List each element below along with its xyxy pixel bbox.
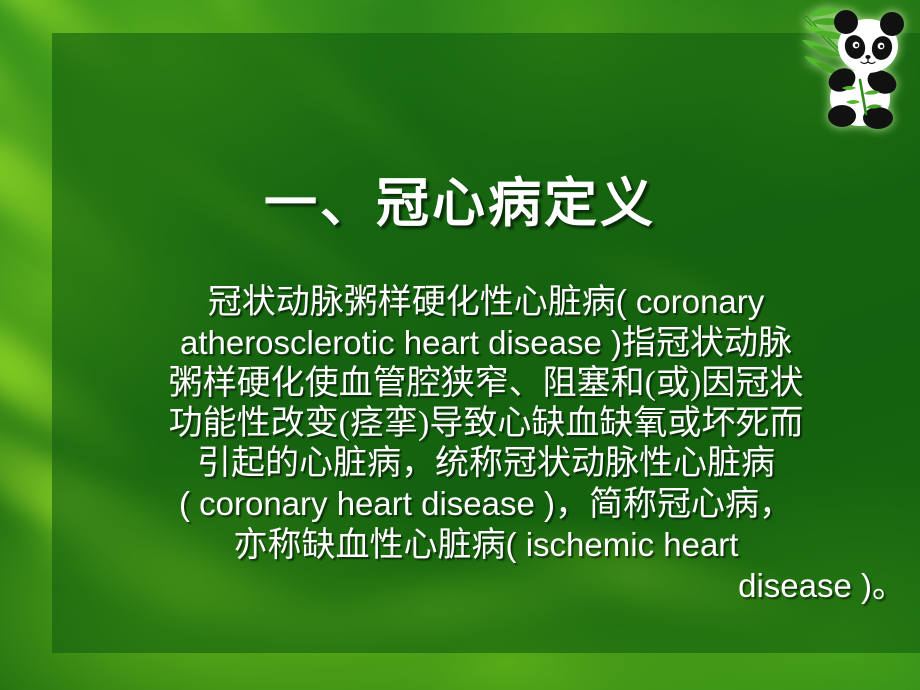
- text-run-han: 亦称缺血性心脏病: [234, 527, 506, 564]
- body-line: disease )。: [66, 566, 906, 607]
- page-title: 一、冠心病定义: [0, 173, 920, 235]
- definition-body-text: 冠状动脉粥样硬化性心脏病( coronaryatherosclerotic he…: [52, 282, 920, 607]
- text-run-han: ，简称冠心病，: [555, 486, 793, 523]
- text-run-han: 功能性改变(痉挛)导致心缺血缺氧或坏死而: [169, 405, 804, 442]
- text-run-han: 指冠状动脉: [622, 325, 792, 362]
- text-run-latin: ( coronary: [616, 283, 765, 320]
- body-line: atherosclerotic heart disease )指冠状动脉: [66, 323, 906, 364]
- body-line: 功能性改变(痉挛)导致心缺血缺氧或坏死而: [66, 404, 906, 444]
- text-run-latin: atherosclerotic heart disease ): [180, 324, 622, 361]
- text-run-han: 冠状动脉粥样硬化性心脏病: [208, 284, 616, 321]
- text-run-latin: ( coronary heart disease ): [179, 485, 555, 522]
- text-run-han: 粥样硬化使血管腔狭窄、阻塞和(或)因冠状: [169, 365, 804, 402]
- text-run-latin: disease ): [738, 567, 872, 604]
- body-line: 粥样硬化使血管腔狭窄、阻塞和(或)因冠状: [66, 364, 906, 404]
- panda-eating-bamboo-icon: [798, 2, 916, 130]
- text-run-han: 引起的心脏病，统称冠状动脉性心脏病: [197, 445, 775, 482]
- slide-canvas: 一、冠心病定义 冠状动脉粥样硬化性心脏病( coronaryatheroscle…: [0, 0, 920, 690]
- text-run-han: 。: [872, 568, 906, 605]
- body-line: 冠状动脉粥样硬化性心脏病( coronary: [66, 282, 906, 323]
- body-line: ( coronary heart disease )，简称冠心病，: [66, 484, 906, 525]
- body-line: 引起的心脏病，统称冠状动脉性心脏病: [66, 444, 906, 484]
- text-run-latin: ( ischemic heart: [506, 526, 739, 563]
- body-line: 亦称缺血性心脏病( ischemic heart: [66, 525, 906, 566]
